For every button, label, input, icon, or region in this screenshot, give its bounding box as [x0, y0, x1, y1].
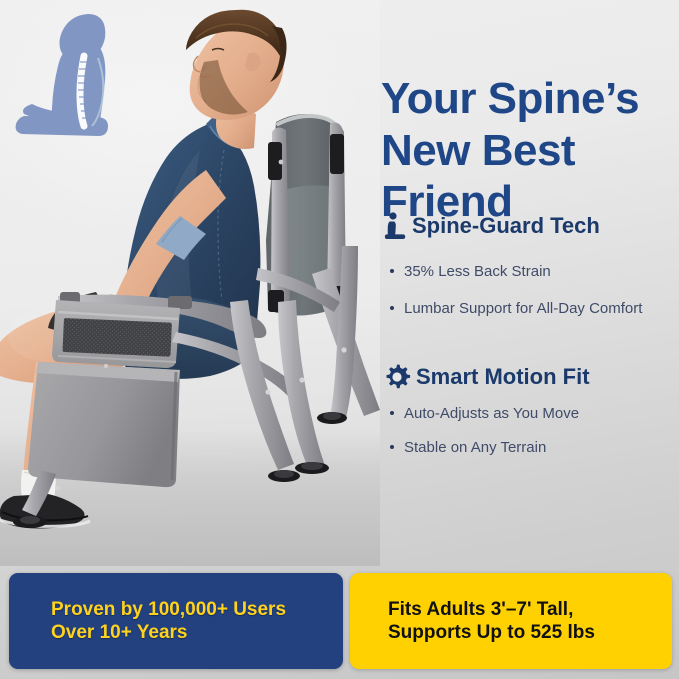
- fit-capacity-banner: Fits Adults 3'–7' Tall, Supports Up to 5…: [350, 573, 672, 669]
- seated-person-icon: [383, 212, 407, 240]
- feature-2-bullets: Auto-Adjusts as You Move Stable on Any T…: [383, 404, 679, 457]
- seated-person-spine-icon: [10, 12, 132, 144]
- feature-2-title: Smart Motion Fit: [416, 364, 590, 390]
- infographic-root: Your Spine’s New Best Friend Spine-Guard…: [0, 0, 679, 679]
- feature-smart-motion-fit: Smart Motion Fit Auto-Adjusts as You Mov…: [383, 363, 679, 471]
- fit-capacity-banner-text: Fits Adults 3'–7' Tall, Supports Up to 5…: [350, 598, 595, 644]
- page-title: Your Spine’s New Best Friend: [381, 73, 673, 227]
- headline-line-1: Your Spine’s: [381, 74, 639, 123]
- feature-1-heading: Spine-Guard Tech: [383, 212, 679, 240]
- feature-2-heading: Smart Motion Fit: [383, 363, 679, 391]
- list-item: Stable on Any Terrain: [383, 438, 679, 458]
- proven-banner-text: Proven by 100,000+ Users Over 10+ Years: [9, 598, 286, 644]
- feature-spine-guard-tech: Spine-Guard Tech 35% Less Back Strain Lu…: [383, 212, 679, 335]
- proven-banner-line-2: Over 10+ Years: [51, 621, 286, 644]
- product-photo: [0, 0, 380, 566]
- list-item: Lumbar Support for All-Day Comfort: [383, 299, 679, 319]
- headline-line-2: New Best: [381, 126, 575, 175]
- proven-banner: Proven by 100,000+ Users Over 10+ Years: [9, 573, 343, 669]
- feature-1-title: Spine-Guard Tech: [412, 213, 600, 239]
- proven-banner-line-1: Proven by 100,000+ Users: [51, 598, 286, 621]
- fit-capacity-banner-line-1: Fits Adults 3'–7' Tall,: [388, 598, 595, 621]
- list-item: Auto-Adjusts as You Move: [383, 404, 679, 424]
- gear-icon: [383, 363, 411, 391]
- list-item: 35% Less Back Strain: [383, 262, 679, 282]
- fit-capacity-banner-line-2: Supports Up to 525 lbs: [388, 621, 595, 644]
- feature-1-bullets: 35% Less Back Strain Lumbar Support for …: [383, 262, 679, 318]
